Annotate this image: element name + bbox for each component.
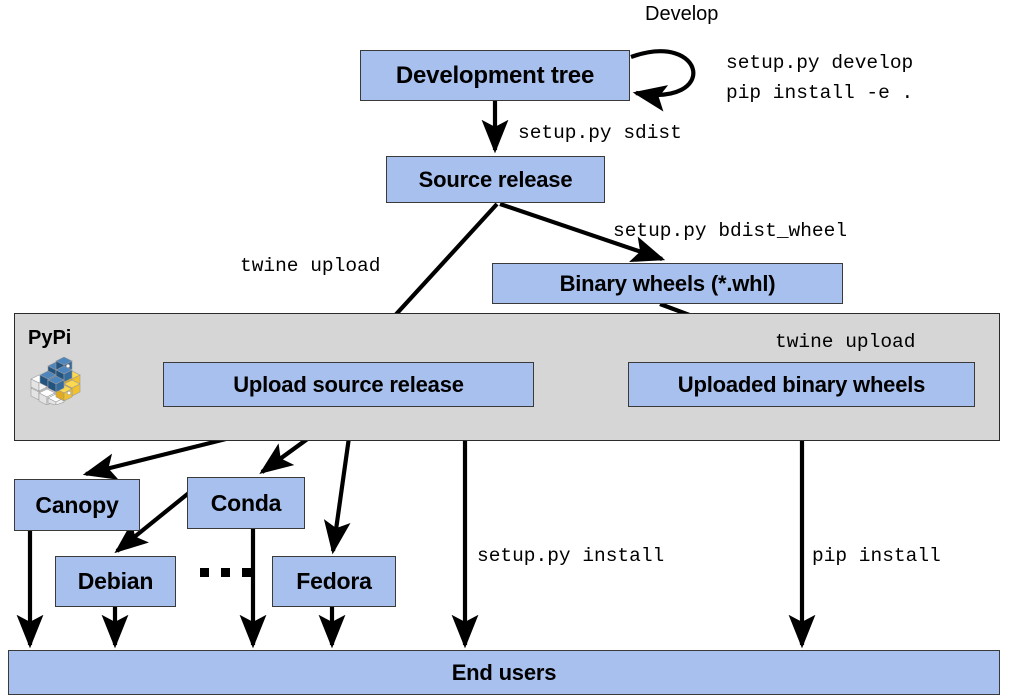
edge-label-twine_right: twine upload: [775, 331, 915, 353]
node-label: Development tree: [396, 62, 594, 90]
node-binary_wheels[interactable]: Binary wheels (*.whl): [492, 263, 843, 304]
node-end_users[interactable]: End users: [8, 650, 1000, 695]
node-label: Debian: [78, 568, 153, 595]
node-label: Uploaded binary wheels: [678, 372, 925, 398]
node-label: Source release: [419, 167, 573, 193]
node-fedora[interactable]: Fedora: [272, 556, 396, 607]
edge-develop-selfloop: [631, 51, 693, 95]
edge-label-develop: Develop: [645, 3, 718, 26]
edge-label-setup_develop: setup.py develop: [726, 52, 913, 74]
ellipsis-dots: [200, 568, 251, 577]
ellipsis-dot: [242, 568, 251, 577]
node-uploaded_wheels[interactable]: Uploaded binary wheels: [628, 362, 975, 407]
edge-label-twine_left: twine upload: [240, 255, 380, 277]
node-label: Upload source release: [233, 372, 464, 398]
node-conda[interactable]: Conda: [187, 477, 305, 529]
node-label: Canopy: [35, 492, 118, 519]
ellipsis-dot: [221, 568, 230, 577]
node-canopy[interactable]: Canopy: [14, 479, 140, 531]
edge-label-setup_bdist: setup.py bdist_wheel: [613, 220, 847, 242]
node-label: Binary wheels (*.whl): [560, 271, 776, 297]
edge-label-setup_sdist: setup.py sdist: [518, 122, 682, 144]
packaging-flow-diagram: PyPi: [0, 0, 1009, 698]
pypi-python-blocks-logo: [28, 357, 86, 410]
edge-label-pip_install_e: pip install -e .: [726, 82, 913, 104]
ellipsis-dot: [200, 568, 209, 577]
edge-label-pip_install: pip install: [812, 545, 941, 567]
node-label: Fedora: [296, 568, 371, 595]
node-upload_source[interactable]: Upload source release: [163, 362, 534, 407]
node-label: End users: [452, 660, 557, 686]
node-dev_tree[interactable]: Development tree: [360, 50, 630, 101]
node-debian[interactable]: Debian: [55, 556, 176, 607]
edge-label-setup_install: setup.py install: [477, 545, 664, 567]
pypi-group-label: PyPi: [28, 327, 71, 350]
node-source_release[interactable]: Source release: [386, 156, 605, 203]
node-label: Conda: [211, 490, 282, 517]
